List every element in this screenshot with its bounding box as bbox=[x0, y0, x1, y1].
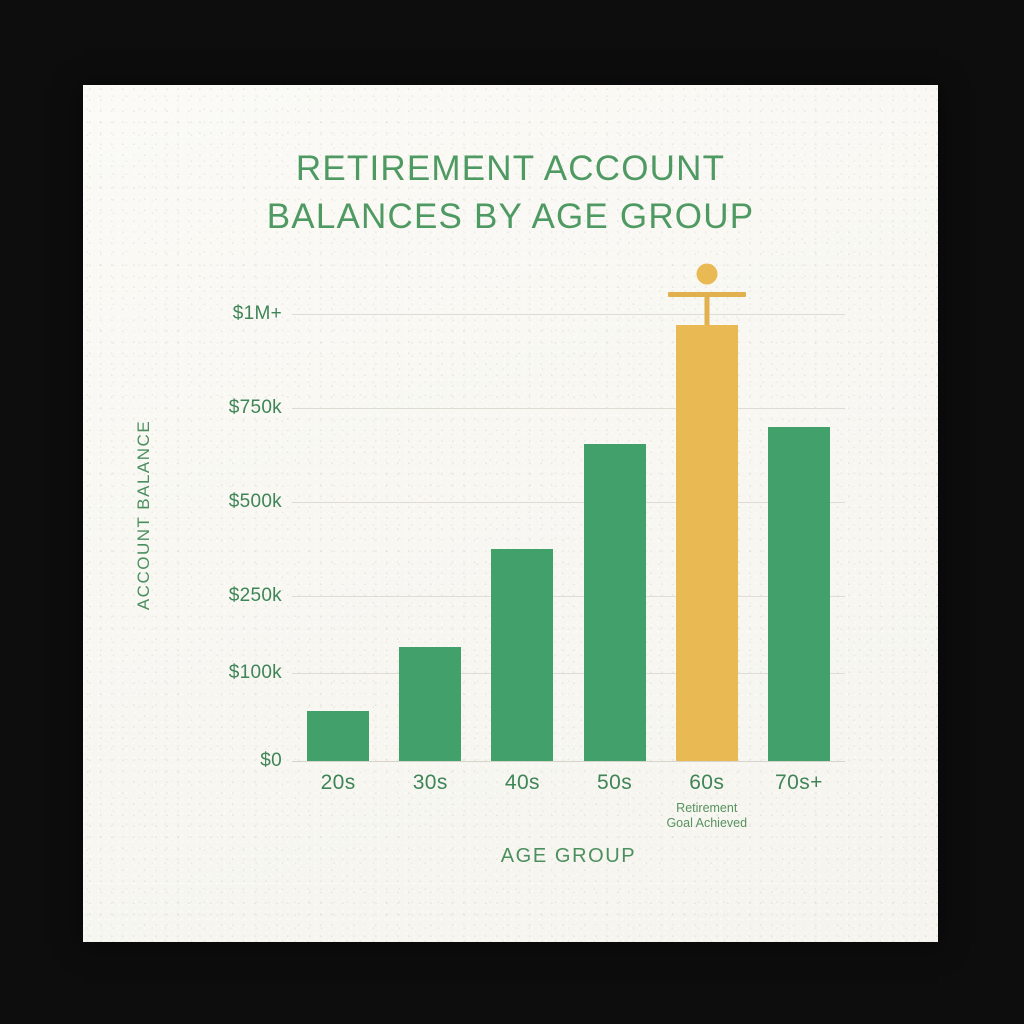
x-tick-60s[interactable]: 60sRetirement Goal Achieved bbox=[660, 771, 754, 832]
goal-marker-crossbar-icon bbox=[668, 292, 746, 297]
x-tick-label: 50s bbox=[568, 771, 662, 795]
goal-achieved-annotation: Retirement Goal Achieved bbox=[660, 801, 754, 832]
backdrop: RETIREMENT ACCOUNT BALANCES BY AGE GROUP… bbox=[0, 0, 1024, 1024]
x-tick-label: 30s bbox=[383, 771, 477, 795]
chart-title-line-2: BALANCES BY AGE GROUP bbox=[83, 193, 938, 241]
plot-area: $0$100k$250k$500k$750k$1M+ bbox=[292, 285, 845, 761]
bar-70s+[interactable] bbox=[768, 427, 830, 761]
x-tick-20s[interactable]: 20s bbox=[291, 771, 385, 795]
x-axis-title: AGE GROUP bbox=[292, 845, 845, 868]
bar-20s[interactable] bbox=[307, 711, 369, 761]
y-tick-label: $1M+ bbox=[233, 303, 282, 325]
bar-50s[interactable] bbox=[584, 444, 646, 761]
x-tick-label: 60s bbox=[660, 771, 754, 795]
chart-title: RETIREMENT ACCOUNT BALANCES BY AGE GROUP bbox=[83, 145, 938, 242]
x-tick-label: 20s bbox=[291, 771, 385, 795]
y-tick-label: $100k bbox=[229, 662, 282, 684]
goal-marker-stem-icon bbox=[704, 295, 709, 325]
gridline bbox=[292, 761, 845, 762]
y-axis-title: ACCOUNT BALANCE bbox=[129, 385, 159, 645]
bar-series bbox=[292, 285, 845, 761]
x-tick-50s[interactable]: 50s bbox=[568, 771, 662, 795]
goal-marker-dot-icon bbox=[696, 264, 717, 285]
x-tick-40s[interactable]: 40s bbox=[475, 771, 569, 795]
y-tick-label: $0 bbox=[260, 750, 282, 772]
y-axis-title-text: ACCOUNT BALANCE bbox=[134, 420, 154, 610]
x-tick-label: 40s bbox=[475, 771, 569, 795]
chart-card: RETIREMENT ACCOUNT BALANCES BY AGE GROUP… bbox=[83, 85, 938, 942]
bar-60s[interactable] bbox=[676, 325, 738, 761]
y-tick-label: $500k bbox=[229, 491, 282, 513]
x-axis-title-text: AGE GROUP bbox=[501, 845, 637, 867]
bar-40s[interactable] bbox=[491, 549, 553, 761]
y-tick-label: $250k bbox=[229, 585, 282, 607]
x-tick-70s+[interactable]: 70s+ bbox=[752, 771, 846, 795]
x-tick-label: 70s+ bbox=[752, 771, 846, 795]
goal-achieved-marker bbox=[676, 293, 738, 325]
x-tick-30s[interactable]: 30s bbox=[383, 771, 477, 795]
chart-title-line-1: RETIREMENT ACCOUNT bbox=[83, 145, 938, 193]
bar-30s[interactable] bbox=[399, 647, 461, 761]
y-tick-label: $750k bbox=[229, 397, 282, 419]
